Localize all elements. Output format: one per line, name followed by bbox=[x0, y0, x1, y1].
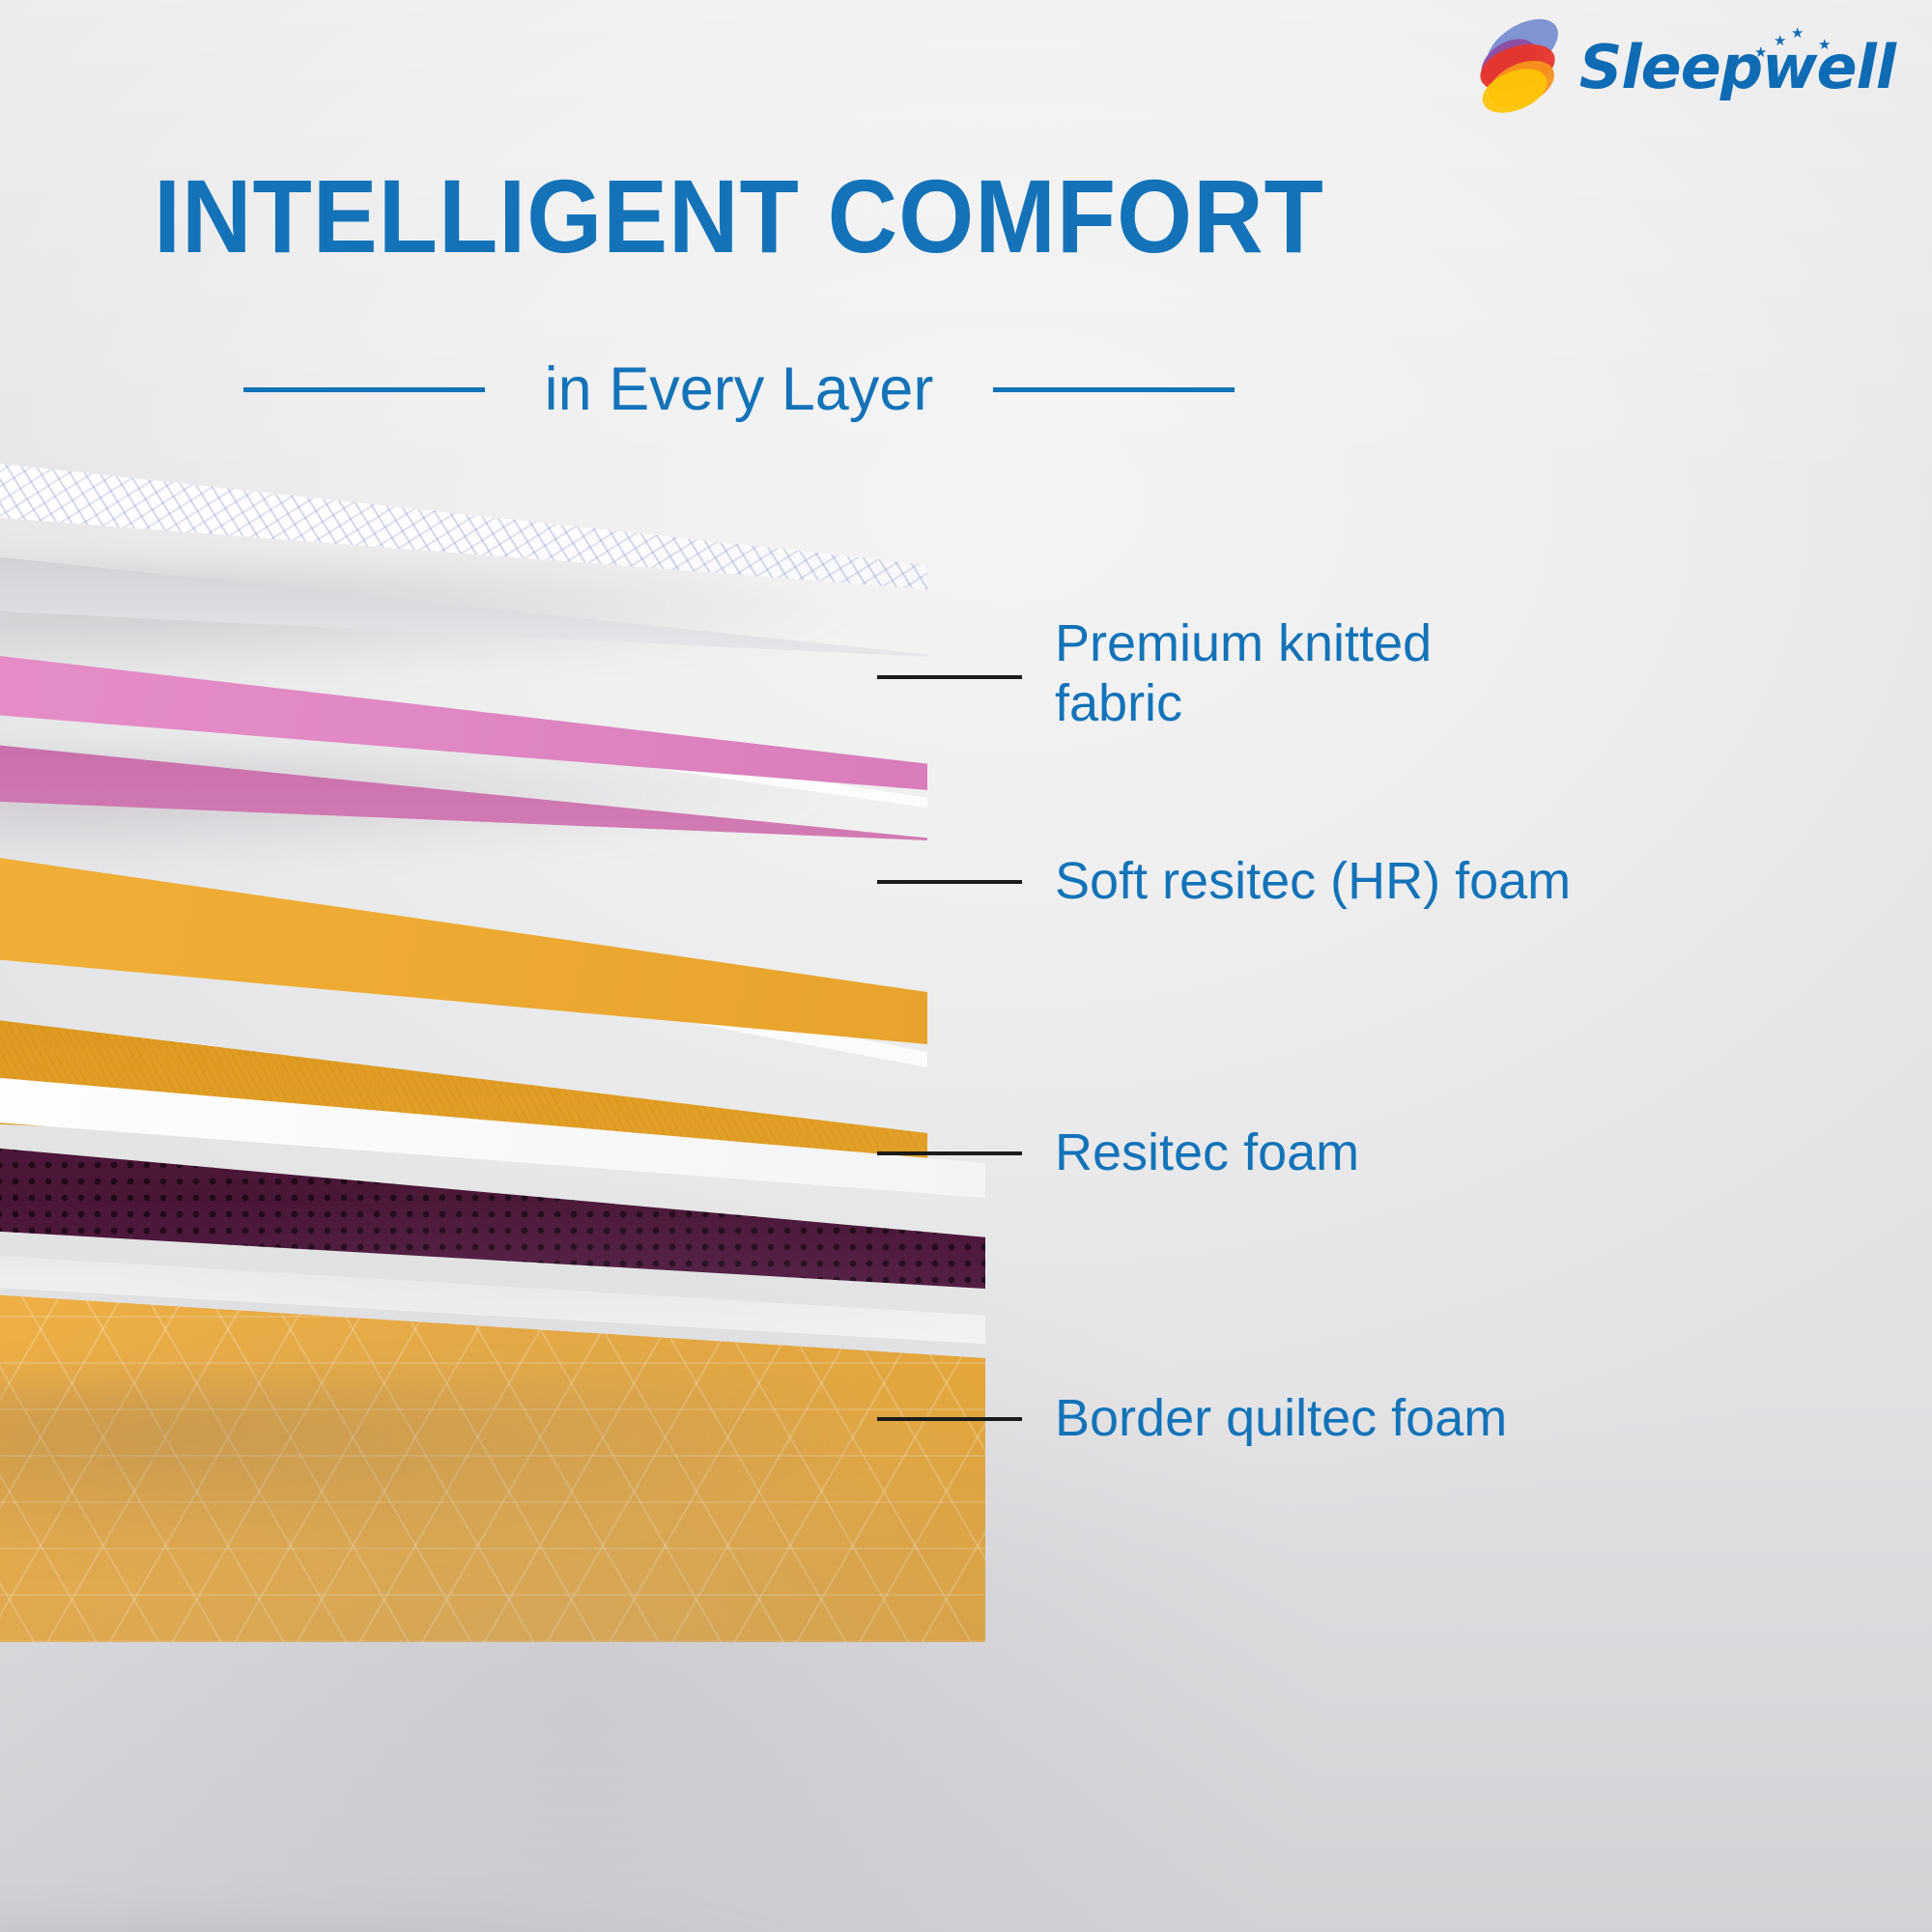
page-title: INTELLIGENT COMFORT bbox=[52, 164, 1427, 269]
subtitle-row: in Every Layer bbox=[0, 359, 1478, 420]
layer-border-quiltec-foam bbox=[0, 995, 985, 1497]
leader-line bbox=[877, 880, 1022, 884]
layer-shadow bbox=[0, 1381, 869, 1555]
leader-line bbox=[877, 1417, 1022, 1421]
stars-icon: ★ ★ ★ ★ bbox=[1752, 28, 1839, 61]
leader-line bbox=[877, 675, 1022, 679]
brand-name: Sleepwell bbox=[1579, 38, 1895, 98]
brand-wordmark: ★ ★ ★ ★ Sleepwell bbox=[1579, 38, 1895, 98]
rule-right bbox=[993, 387, 1235, 392]
sleepwell-swirl-logo-icon bbox=[1477, 21, 1560, 114]
rule-left bbox=[243, 387, 485, 392]
callout-label: Border quiltec foam bbox=[1055, 1389, 1507, 1449]
brand-logo: ★ ★ ★ ★ Sleepwell bbox=[1477, 21, 1895, 114]
callout-label: Premium knitted fabric bbox=[1055, 614, 1432, 733]
page-subtitle: in Every Layer bbox=[545, 359, 934, 420]
floor-contact-shadow bbox=[0, 1922, 889, 1932]
product-infographic: ★ ★ ★ ★ Sleepwell INTELLIGENT COMFORT in… bbox=[0, 0, 1932, 1932]
callout-label: Resitec foam bbox=[1055, 1123, 1359, 1183]
callout-soft-hr-foam: Soft resitec (HR) foam bbox=[877, 852, 1571, 912]
callout-knitted-fabric: Premium knitted fabric bbox=[877, 620, 1432, 733]
callout-resitec-foam: Resitec foam bbox=[877, 1123, 1359, 1183]
callout-border-quiltec-foam: Border quiltec foam bbox=[877, 1389, 1507, 1449]
leader-line bbox=[877, 1151, 1022, 1155]
callout-label: Soft resitec (HR) foam bbox=[1055, 852, 1571, 912]
mattress-cutaway-illustration bbox=[0, 415, 985, 1497]
